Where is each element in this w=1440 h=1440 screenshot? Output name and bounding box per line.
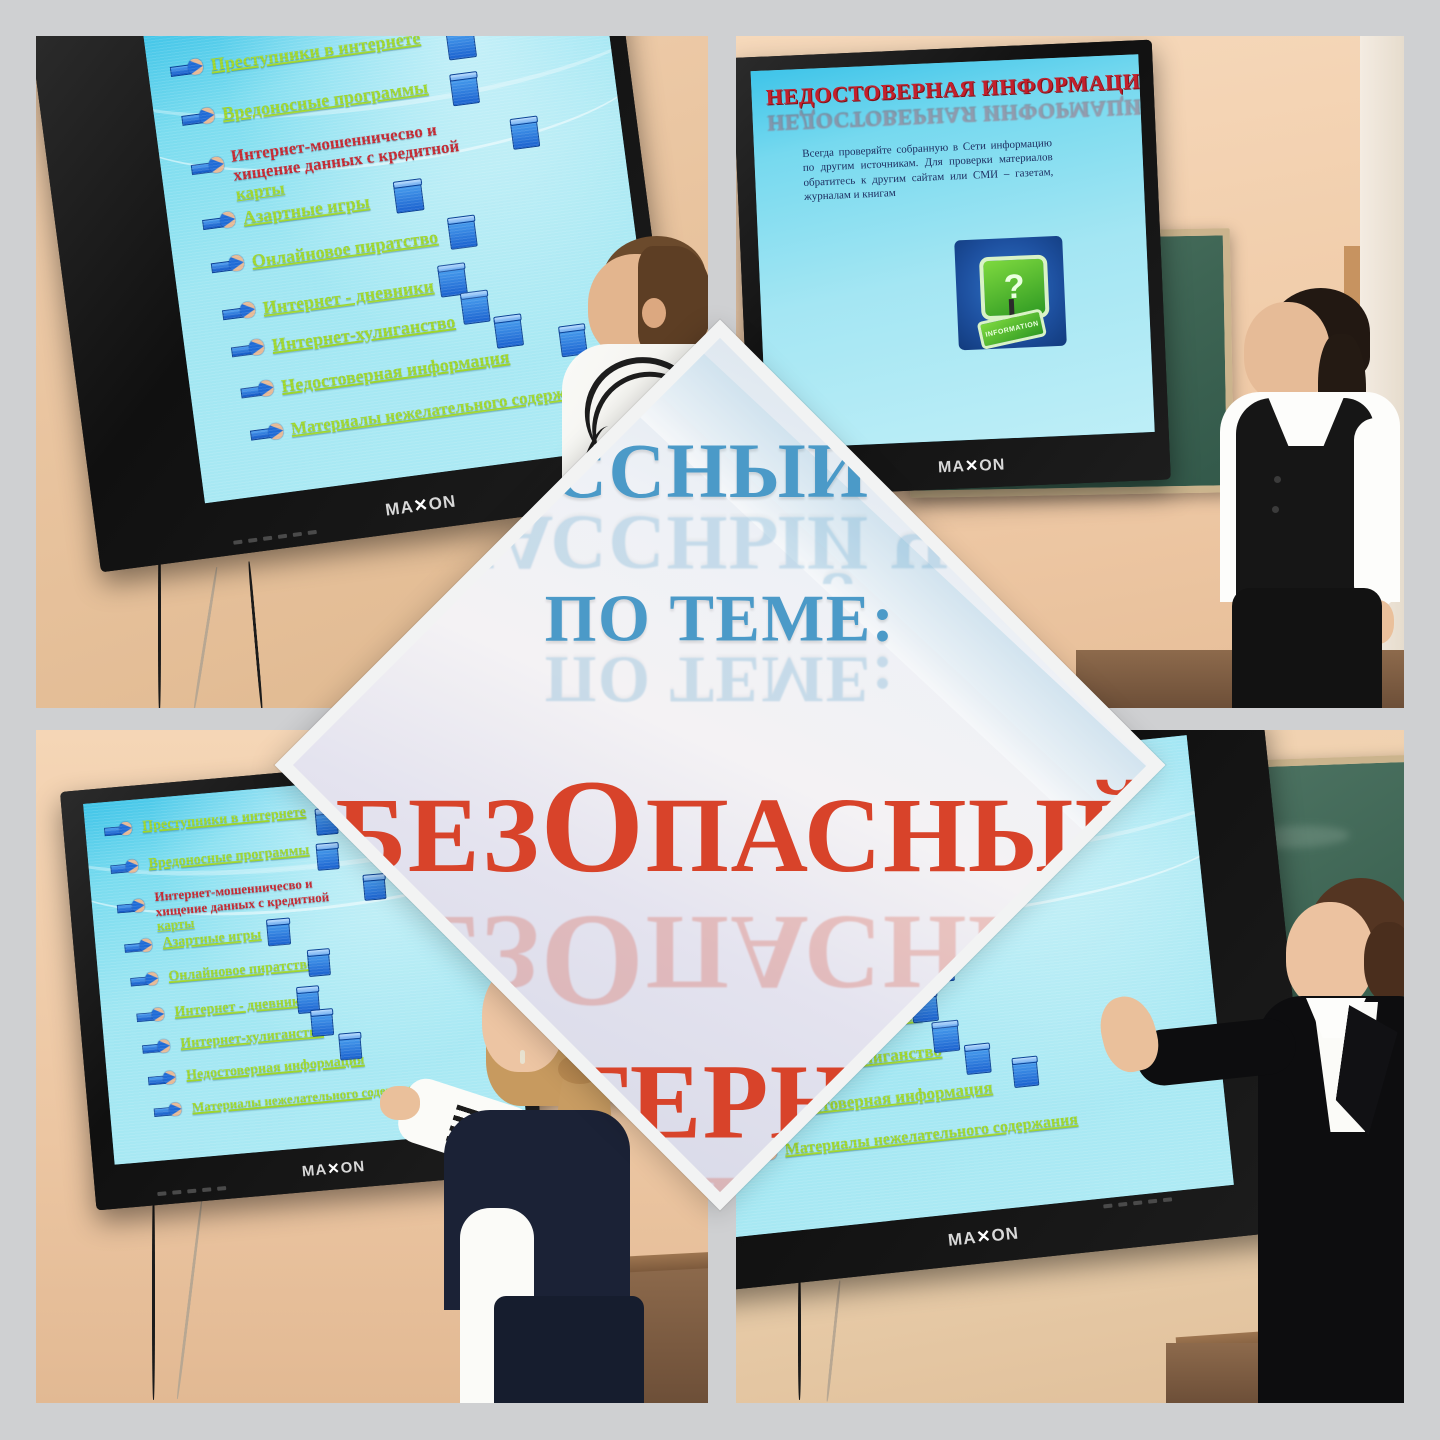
- ear: [642, 298, 666, 328]
- hand-pointing: [380, 1086, 420, 1120]
- student-girl-pointing: [1234, 878, 1404, 1403]
- tv-cable-1: [152, 1190, 155, 1400]
- information-icon: ? INFORMATION: [954, 236, 1067, 351]
- vest-button: [1274, 476, 1281, 483]
- slide-body-text: Всегда проверяйте собранную в Сети инфор…: [802, 136, 1054, 204]
- slide-title: НЕДОСТОВЕРНАЯ ИНФОРМАЦИЯ НЕДОСТОВЕРНАЯ И…: [765, 68, 1155, 111]
- tv-brand-logo: MA✕ON: [938, 454, 1006, 477]
- arm-right: [1354, 418, 1398, 608]
- head: [1286, 902, 1374, 1008]
- tv-cable-1: [798, 1270, 801, 1400]
- photo-collage: Преступники в интернете Вредоносные прог…: [0, 0, 1440, 1440]
- skirt: [494, 1296, 644, 1403]
- student-girl-presenter: [1214, 288, 1404, 708]
- tv-screen[interactable]: НЕДОСТОВЕРНАЯ ИНФОРМАЦИЯ НЕДОСТОВЕРНАЯ И…: [751, 54, 1155, 449]
- trousers: [1232, 588, 1382, 708]
- vest-button: [1272, 506, 1279, 513]
- earring: [520, 1050, 525, 1064]
- title-line-3-big-letter: О: [540, 752, 645, 900]
- hair-bun: [1364, 922, 1404, 1002]
- slide-misinformation: НЕДОСТОВЕРНАЯ ИНФОРМАЦИЯ НЕДОСТОВЕРНАЯ И…: [751, 54, 1155, 449]
- title-line-2-reflection: ПО ТЕМЕ:: [545, 642, 896, 719]
- title-line-3: «БЕЗОПАСНЫЙ: [293, 759, 1147, 892]
